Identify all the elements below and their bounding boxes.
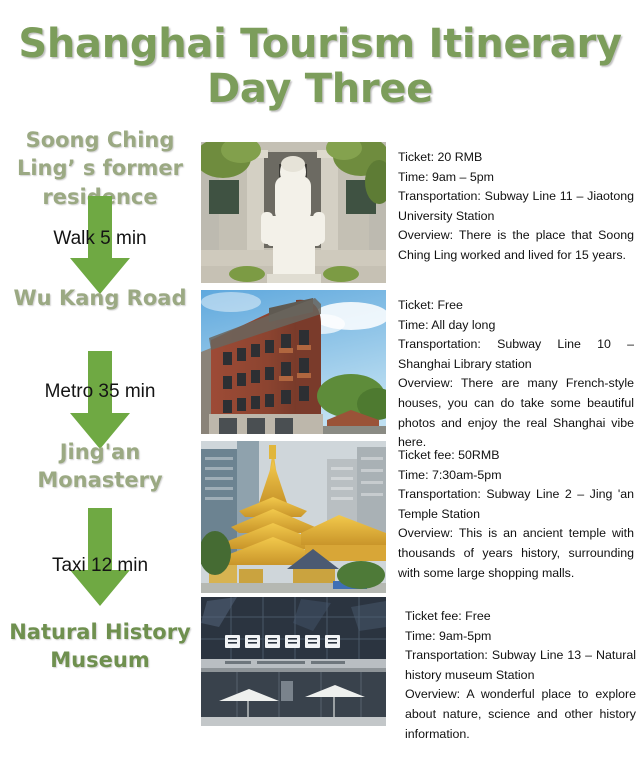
info-overview: Overview: There are many French-style ho… [398, 374, 634, 452]
photo-jingan-monastery [201, 441, 386, 593]
info-time: Time: 9am-5pm [405, 627, 636, 647]
info-block-natural-history-museum: Ticket fee: Free Time: 9am-5pm Transport… [405, 607, 636, 744]
statue-photo-graphic [201, 142, 386, 283]
info-transportation: Transportation: Subway Line 2 – Jing 'an… [398, 485, 634, 524]
stop-label-wu-kang-road: Wu Kang Road [0, 284, 200, 312]
golden-temple-photo-graphic [201, 441, 386, 593]
museum-facade-photo-graphic [201, 597, 386, 726]
page-title-line-1: Shanghai Tourism Itinerary [0, 22, 640, 67]
info-overview: Overview: This is an ancient temple with… [398, 524, 634, 583]
info-overview: Overview: A wonderful place to explore a… [405, 685, 636, 744]
leg-label-taxi: Taxi 12 min [0, 555, 200, 577]
info-block-soong-ching-ling: Ticket: 20 RMB Time: 9am – 5pm Transport… [398, 148, 634, 266]
page-title-line-2: Day Three [0, 67, 640, 112]
info-ticket: Ticket: Free [398, 296, 634, 316]
info-block-wu-kang-road: Ticket: Free Time: All day long Transpor… [398, 296, 634, 453]
brick-building-photo-graphic [201, 290, 386, 434]
info-time: Time: 7:30am-5pm [398, 466, 634, 486]
info-time: Time: 9am – 5pm [398, 168, 634, 188]
photo-natural-history-museum [201, 597, 386, 726]
info-transportation: Transportation: Subway Line 11 – Jiaoton… [398, 187, 634, 226]
stop-label-jingan-monastery: Jing'an Monastery [0, 438, 200, 495]
info-transportation: Transportation: Subway Line 13 – Natural… [405, 646, 636, 685]
info-block-jingan-monastery: Ticket fee: 50RMB Time: 7:30am-5pm Trans… [398, 446, 634, 583]
info-time: Time: All day long [398, 316, 634, 336]
leg-label-metro: Metro 35 min [0, 381, 200, 403]
page-title: Shanghai Tourism Itinerary Day Three [0, 22, 640, 112]
info-overview: Overview: There is the place that Soong … [398, 226, 634, 265]
info-ticket: Ticket: 20 RMB [398, 148, 634, 168]
leg-label-walk: Walk 5 min [0, 228, 200, 250]
info-transportation: Transportation: Subway Line 10 – Shangha… [398, 335, 634, 374]
info-ticket: Ticket fee: Free [405, 607, 636, 627]
itinerary-flow-column: Soong Ching Ling’ s former residence Wal… [0, 118, 200, 718]
photo-soong-ching-ling-residence [201, 142, 386, 283]
photo-wu-kang-road [201, 290, 386, 434]
stop-label-natural-history-museum: Natural History Museum [0, 618, 200, 675]
info-ticket: Ticket fee: 50RMB [398, 446, 634, 466]
